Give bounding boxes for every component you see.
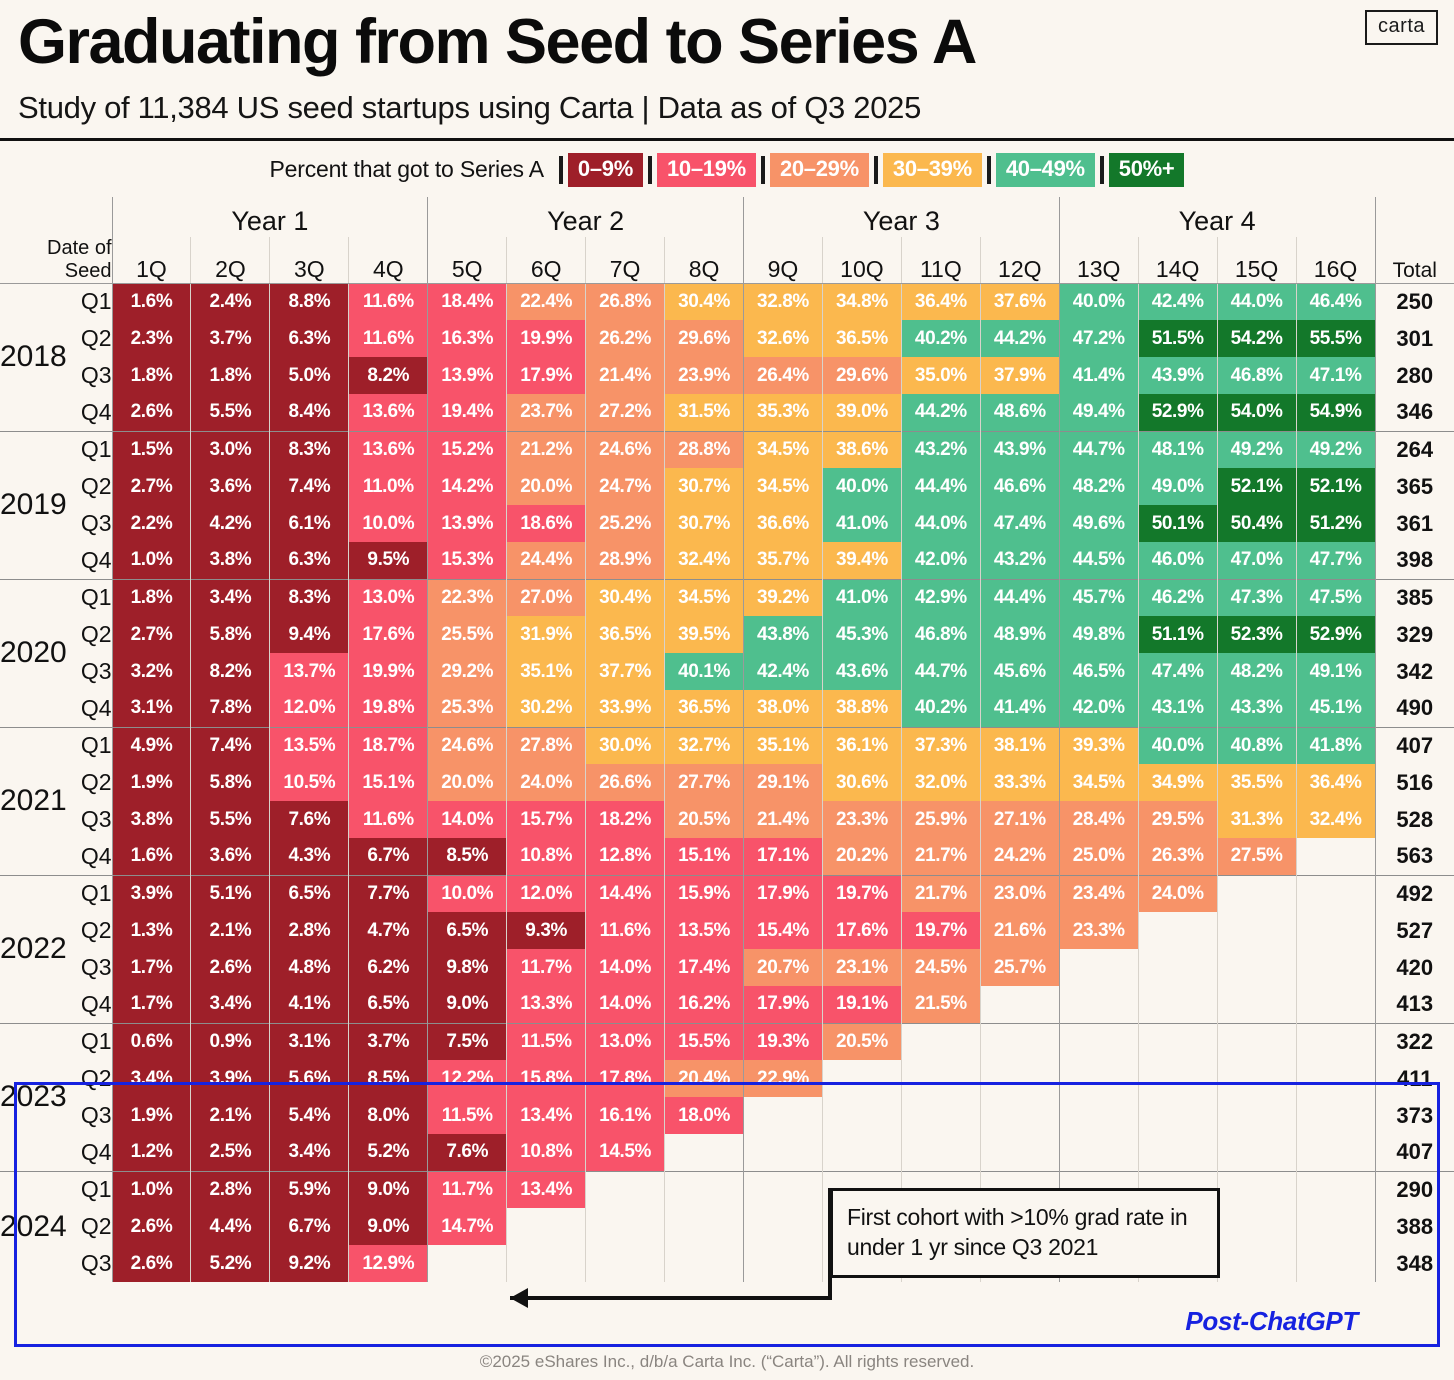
heatmap-cell-2022-Q3-8Q: 17.4% <box>665 949 744 986</box>
heatmap-cell-2018-Q4-7Q: 27.2% <box>586 394 665 431</box>
heatmap-cell-empty <box>428 1245 507 1282</box>
heatmap-cell-2023-Q1-4Q: 3.7% <box>349 1023 428 1060</box>
heatmap-cell-2018-Q3-12Q: 37.9% <box>980 357 1059 394</box>
heatmap-cell-empty <box>1217 1208 1296 1245</box>
total-cell-2018-Q3: 280 <box>1375 357 1454 394</box>
heatmap-cell-2021-Q4-2Q: 3.6% <box>191 838 270 875</box>
heatmap-cell-empty <box>1296 1023 1375 1060</box>
heatmap-cell-2021-Q4-4Q: 6.7% <box>349 838 428 875</box>
heatmap-cell-2018-Q3-5Q: 13.9% <box>428 357 507 394</box>
heatmap-cell-empty <box>1217 1245 1296 1282</box>
heatmap-cell-2022-Q1-4Q: 7.7% <box>349 875 428 912</box>
heatmap-cell-2019-Q2-10Q: 40.0% <box>822 468 901 505</box>
heatmap-cell-2021-Q2-11Q: 32.0% <box>901 764 980 801</box>
heatmap-cell-2021-Q1-2Q: 7.4% <box>191 727 270 764</box>
column-header-8Q: 8Q <box>665 237 744 284</box>
heatmap-cell-2022-Q3-3Q: 4.8% <box>270 949 349 986</box>
heatmap-cell-2020-Q3-12Q: 45.6% <box>980 653 1059 690</box>
heatmap-cell-2022-Q1-6Q: 12.0% <box>507 875 586 912</box>
heatmap-cell-2018-Q2-1Q: 2.3% <box>112 320 191 357</box>
heatmap-cell-2023-Q4-6Q: 10.8% <box>507 1134 586 1171</box>
heatmap-cell-2024-Q2-2Q: 4.4% <box>191 1208 270 1245</box>
total-cell-2018-Q4: 346 <box>1375 394 1454 431</box>
heatmap-cell-2018-Q3-1Q: 1.8% <box>112 357 191 394</box>
heatmap-cell-2018-Q1-10Q: 34.8% <box>822 283 901 320</box>
heatmap-cell-2021-Q2-15Q: 35.5% <box>1217 764 1296 801</box>
heatmap-cell-empty <box>665 1245 744 1282</box>
heatmap-cell-2022-Q2-6Q: 9.3% <box>507 912 586 949</box>
heatmap-cell-2019-Q2-13Q: 48.2% <box>1059 468 1138 505</box>
heatmap-cell-2024-Q3-3Q: 9.2% <box>270 1245 349 1282</box>
heatmap-cell-empty <box>1059 1134 1138 1171</box>
heatmap-cell-2020-Q1-9Q: 39.2% <box>744 579 823 616</box>
heatmap-cell-2021-Q3-8Q: 20.5% <box>665 801 744 838</box>
heatmap-cell-empty <box>1217 1097 1296 1134</box>
heatmap-cell-2020-Q4-3Q: 12.0% <box>270 690 349 727</box>
heatmap-cell-2021-Q1-16Q: 41.8% <box>1296 727 1375 764</box>
heatmap-cell-2020-Q1-14Q: 46.2% <box>1138 579 1217 616</box>
column-header-11Q: 11Q <box>901 237 980 284</box>
row-label-2021-Q1: Q1 <box>56 727 112 764</box>
heatmap-cell-empty <box>1217 1171 1296 1208</box>
heatmap-cell-2018-Q2-5Q: 16.3% <box>428 320 507 357</box>
heatmap-cell-empty <box>822 1097 901 1134</box>
heatmap-cell-2023-Q4-1Q: 1.2% <box>112 1134 191 1171</box>
row-label-2022-Q4: Q4 <box>56 986 112 1023</box>
column-header-14Q: 14Q <box>1138 237 1217 284</box>
heatmap-cell-2020-Q4-8Q: 36.5% <box>665 690 744 727</box>
heatmap-cell-2023-Q2-9Q: 22.9% <box>744 1060 823 1097</box>
heatmap-cell-2018-Q1-2Q: 2.4% <box>191 283 270 320</box>
row-label-2020-Q1: Q1 <box>56 579 112 616</box>
heatmap-cell-2021-Q3-3Q: 7.6% <box>270 801 349 838</box>
heatmap-cell-empty <box>1296 838 1375 875</box>
heatmap-cell-2023-Q3-1Q: 1.9% <box>112 1097 191 1134</box>
heatmap-cell-2023-Q3-2Q: 2.1% <box>191 1097 270 1134</box>
heatmap-cell-2021-Q3-7Q: 18.2% <box>586 801 665 838</box>
heatmap-cell-empty <box>980 1023 1059 1060</box>
heatmap-cell-2020-Q3-6Q: 35.1% <box>507 653 586 690</box>
heatmap-cell-2019-Q4-9Q: 35.7% <box>744 542 823 579</box>
heatmap-cell-2020-Q4-11Q: 40.2% <box>901 690 980 727</box>
heatmap-cell-2018-Q4-12Q: 48.6% <box>980 394 1059 431</box>
heatmap-cell-2019-Q4-1Q: 1.0% <box>112 542 191 579</box>
heatmap-cell-2018-Q1-5Q: 18.4% <box>428 283 507 320</box>
heatmap-cell-2023-Q2-2Q: 3.9% <box>191 1060 270 1097</box>
total-cell-2023-Q4: 407 <box>1375 1134 1454 1171</box>
heatmap-cell-2018-Q1-7Q: 26.8% <box>586 283 665 320</box>
heatmap-cell-2018-Q4-4Q: 13.6% <box>349 394 428 431</box>
year-group-header-3: Year 3 <box>744 197 1060 237</box>
year-label-2020: 2020 <box>0 579 56 727</box>
total-cell-2021-Q1: 407 <box>1375 727 1454 764</box>
heatmap-cell-2021-Q3-16Q: 32.4% <box>1296 801 1375 838</box>
heatmap-cell-2019-Q1-6Q: 21.2% <box>507 431 586 468</box>
heatmap-cell-2018-Q3-9Q: 26.4% <box>744 357 823 394</box>
row-label-2022-Q1: Q1 <box>56 875 112 912</box>
heatmap-cell-empty <box>1059 1023 1138 1060</box>
total-cell-2019-Q1: 264 <box>1375 431 1454 468</box>
heatmap-cell-2020-Q4-13Q: 42.0% <box>1059 690 1138 727</box>
heatmap-cell-2019-Q3-13Q: 49.6% <box>1059 505 1138 542</box>
callout-note: First cohort with >10% grad rate in unde… <box>830 1188 1220 1278</box>
column-header-16Q: 16Q <box>1296 237 1375 284</box>
heatmap-cell-2019-Q3-7Q: 25.2% <box>586 505 665 542</box>
heatmap-cell-2020-Q3-9Q: 42.4% <box>744 653 823 690</box>
total-cell-2023-Q2: 411 <box>1375 1060 1454 1097</box>
total-cell-2022-Q2: 527 <box>1375 912 1454 949</box>
heatmap-cell-2022-Q1-10Q: 19.7% <box>822 875 901 912</box>
total-cell-2020-Q3: 342 <box>1375 653 1454 690</box>
heatmap-cell-empty <box>1059 986 1138 1023</box>
heatmap-cell-2019-Q4-6Q: 24.4% <box>507 542 586 579</box>
heatmap-cell-2019-Q1-2Q: 3.0% <box>191 431 270 468</box>
heatmap-cell-2023-Q3-7Q: 16.1% <box>586 1097 665 1134</box>
heatmap-cell-2023-Q3-8Q: 18.0% <box>665 1097 744 1134</box>
heatmap-cell-2023-Q1-8Q: 15.5% <box>665 1023 744 1060</box>
heatmap-cell-2018-Q1-12Q: 37.6% <box>980 283 1059 320</box>
heatmap-cell-2020-Q2-10Q: 45.3% <box>822 616 901 653</box>
heatmap-cell-empty <box>1296 875 1375 912</box>
heatmap-cell-2020-Q4-16Q: 45.1% <box>1296 690 1375 727</box>
heatmap-cell-2022-Q2-7Q: 11.6% <box>586 912 665 949</box>
heatmap-cell-2022-Q3-10Q: 23.1% <box>822 949 901 986</box>
heatmap-cell-2019-Q3-10Q: 41.0% <box>822 505 901 542</box>
heatmap-cell-empty <box>1296 1208 1375 1245</box>
heatmap-cell-2020-Q2-13Q: 49.8% <box>1059 616 1138 653</box>
heatmap-cell-2019-Q3-12Q: 47.4% <box>980 505 1059 542</box>
heatmap-cell-2019-Q1-10Q: 38.6% <box>822 431 901 468</box>
table-row: Q22.7%5.8%9.4%17.6%25.5%31.9%36.5%39.5%4… <box>0 616 1454 653</box>
heatmap-cell-2022-Q2-3Q: 2.8% <box>270 912 349 949</box>
heatmap-cell-empty <box>1059 1097 1138 1134</box>
page-subtitle: Study of 11,384 US seed startups using C… <box>18 90 1436 126</box>
heatmap-cell-empty <box>1138 912 1217 949</box>
heatmap-cell-empty <box>1296 1097 1375 1134</box>
total-cell-2023-Q3: 373 <box>1375 1097 1454 1134</box>
heatmap-cell-2018-Q2-2Q: 3.7% <box>191 320 270 357</box>
heatmap-cell-2019-Q3-8Q: 30.7% <box>665 505 744 542</box>
heatmap-cell-2018-Q3-10Q: 29.6% <box>822 357 901 394</box>
heatmap-cell-2021-Q3-6Q: 15.7% <box>507 801 586 838</box>
heatmap-cell-empty <box>1138 1134 1217 1171</box>
heatmap-cell-2021-Q4-5Q: 8.5% <box>428 838 507 875</box>
heatmap-cell-empty <box>744 1171 823 1208</box>
heatmap-cell-2021-Q1-8Q: 32.7% <box>665 727 744 764</box>
quarter-header-row: Date of Seed1Q2Q3Q4Q5Q6Q7Q8Q9Q10Q11Q12Q1… <box>0 237 1454 284</box>
heatmap-cell-2022-Q4-3Q: 4.1% <box>270 986 349 1023</box>
heatmap-cell-empty <box>1217 1060 1296 1097</box>
heatmap-cell-2021-Q1-9Q: 35.1% <box>744 727 823 764</box>
legend-separator <box>559 156 563 184</box>
heatmap-cell-2020-Q3-10Q: 43.6% <box>822 653 901 690</box>
heatmap-cell-2022-Q2-8Q: 13.5% <box>665 912 744 949</box>
heatmap-cell-2019-Q2-6Q: 20.0% <box>507 468 586 505</box>
table-row: Q41.0%3.8%6.3%9.5%15.3%24.4%28.9%32.4%35… <box>0 542 1454 579</box>
year-label-2018: 2018 <box>0 283 56 431</box>
heatmap-cell-2019-Q2-1Q: 2.7% <box>112 468 191 505</box>
heatmap-cell-2021-Q2-13Q: 34.5% <box>1059 764 1138 801</box>
legend-separator <box>987 156 991 184</box>
table-row: Q41.7%3.4%4.1%6.5%9.0%13.3%14.0%16.2%17.… <box>0 986 1454 1023</box>
heatmap-cell-2019-Q2-16Q: 52.1% <box>1296 468 1375 505</box>
table-row: Q33.2%8.2%13.7%19.9%29.2%35.1%37.7%40.1%… <box>0 653 1454 690</box>
heatmap-cell-2018-Q1-3Q: 8.8% <box>270 283 349 320</box>
heatmap-cell-2022-Q4-6Q: 13.3% <box>507 986 586 1023</box>
table-row: Q31.8%1.8%5.0%8.2%13.9%17.9%21.4%23.9%26… <box>0 357 1454 394</box>
heatmap-cell-2018-Q2-4Q: 11.6% <box>349 320 428 357</box>
heatmap-cell-empty <box>586 1245 665 1282</box>
heatmap-cell-2020-Q2-11Q: 46.8% <box>901 616 980 653</box>
heatmap-cell-2018-Q3-14Q: 43.9% <box>1138 357 1217 394</box>
heatmap-cell-2022-Q1-3Q: 6.5% <box>270 875 349 912</box>
header-spacer <box>0 197 112 237</box>
page-title: Graduating from Seed to Series A <box>18 10 1436 76</box>
heatmap-cell-2021-Q1-13Q: 39.3% <box>1059 727 1138 764</box>
heatmap-cell-2018-Q4-14Q: 52.9% <box>1138 394 1217 431</box>
heatmap-cell-2019-Q4-14Q: 46.0% <box>1138 542 1217 579</box>
heatmap-cell-2021-Q2-1Q: 1.9% <box>112 764 191 801</box>
heatmap-cell-2021-Q3-1Q: 3.8% <box>112 801 191 838</box>
heatmap-cell-2021-Q4-14Q: 26.3% <box>1138 838 1217 875</box>
heatmap-cell-2020-Q2-5Q: 25.5% <box>428 616 507 653</box>
table-row: 2024Q11.0%2.8%5.9%9.0%11.7%13.4%290 <box>0 1171 1454 1208</box>
heatmap-cell-2023-Q1-10Q: 20.5% <box>822 1023 901 1060</box>
heatmap-cell-2023-Q3-4Q: 8.0% <box>349 1097 428 1134</box>
heatmap-cell-2021-Q3-11Q: 25.9% <box>901 801 980 838</box>
legend-separator <box>761 156 765 184</box>
heatmap-cell-2021-Q1-10Q: 36.1% <box>822 727 901 764</box>
heatmap-cell-empty <box>665 1208 744 1245</box>
heatmap-cell-2022-Q4-4Q: 6.5% <box>349 986 428 1023</box>
heatmap-cell-2018-Q2-10Q: 36.5% <box>822 320 901 357</box>
heatmap-cell-2023-Q4-7Q: 14.5% <box>586 1134 665 1171</box>
heatmap-cell-2018-Q3-11Q: 35.0% <box>901 357 980 394</box>
heatmap-cell-empty <box>1059 1060 1138 1097</box>
heatmap-cell-2019-Q1-15Q: 49.2% <box>1217 431 1296 468</box>
heatmap-cell-empty <box>1296 1171 1375 1208</box>
heatmap-cell-2018-Q4-10Q: 39.0% <box>822 394 901 431</box>
heatmap-cell-empty <box>744 1245 823 1282</box>
heatmap-cell-2019-Q2-15Q: 52.1% <box>1217 468 1296 505</box>
heatmap-cell-2022-Q2-13Q: 23.3% <box>1059 912 1138 949</box>
heatmap-cell-2020-Q2-12Q: 48.9% <box>980 616 1059 653</box>
heatmap-cell-2022-Q1-14Q: 24.0% <box>1138 875 1217 912</box>
heatmap-cell-2022-Q4-1Q: 1.7% <box>112 986 191 1023</box>
row-label-2018-Q4: Q4 <box>56 394 112 431</box>
heatmap-cell-2022-Q1-9Q: 17.9% <box>744 875 823 912</box>
heatmap-cell-2018-Q3-6Q: 17.9% <box>507 357 586 394</box>
heatmap-cell-2022-Q2-2Q: 2.1% <box>191 912 270 949</box>
heatmap-cell-2020-Q1-3Q: 8.3% <box>270 579 349 616</box>
heatmap-cell-2020-Q2-3Q: 9.4% <box>270 616 349 653</box>
heatmap-cell-2020-Q2-15Q: 52.3% <box>1217 616 1296 653</box>
heatmap-cell-2022-Q4-10Q: 19.1% <box>822 986 901 1023</box>
heatmap-cell-2019-Q2-9Q: 34.5% <box>744 468 823 505</box>
heatmap-cell-2019-Q1-5Q: 15.2% <box>428 431 507 468</box>
heatmap-cell-2018-Q3-15Q: 46.8% <box>1217 357 1296 394</box>
heatmap-cell-2021-Q2-9Q: 29.1% <box>744 764 823 801</box>
heatmap-cell-2020-Q1-13Q: 45.7% <box>1059 579 1138 616</box>
heatmap-cell-2022-Q4-7Q: 14.0% <box>586 986 665 1023</box>
heatmap-cell-2018-Q4-2Q: 5.5% <box>191 394 270 431</box>
heatmap-cell-2020-Q3-16Q: 49.1% <box>1296 653 1375 690</box>
table-row: Q43.1%7.8%12.0%19.8%25.3%30.2%33.9%36.5%… <box>0 690 1454 727</box>
heatmap-cell-2018-Q3-2Q: 1.8% <box>191 357 270 394</box>
heatmap-cell-2019-Q1-11Q: 43.2% <box>901 431 980 468</box>
column-header-5Q: 5Q <box>428 237 507 284</box>
heatmap-cell-2019-Q2-5Q: 14.2% <box>428 468 507 505</box>
heatmap-cell-2022-Q3-4Q: 6.2% <box>349 949 428 986</box>
heatmap-cell-2022-Q3-1Q: 1.7% <box>112 949 191 986</box>
heatmap-cell-empty <box>1217 949 1296 986</box>
heatmap-cell-2018-Q1-15Q: 44.0% <box>1217 283 1296 320</box>
heatmap-cell-2022-Q3-5Q: 9.8% <box>428 949 507 986</box>
table-row: Q23.4%3.9%5.6%8.5%12.2%15.8%17.8%20.4%22… <box>0 1060 1454 1097</box>
row-label-2024-Q1: Q1 <box>56 1171 112 1208</box>
heatmap-cell-2021-Q4-7Q: 12.8% <box>586 838 665 875</box>
heatmap-cell-2024-Q2-5Q: 14.7% <box>428 1208 507 1245</box>
heatmap-cell-2020-Q2-2Q: 5.8% <box>191 616 270 653</box>
heatmap-cell-empty <box>1217 986 1296 1023</box>
heatmap-cell-2022-Q2-1Q: 1.3% <box>112 912 191 949</box>
heatmap-cell-empty <box>1217 1134 1296 1171</box>
heatmap-cell-2020-Q1-5Q: 22.3% <box>428 579 507 616</box>
heatmap-cell-2021-Q2-10Q: 30.6% <box>822 764 901 801</box>
legend-label: Percent that got to Series A <box>270 156 544 183</box>
heatmap-cell-empty <box>1296 986 1375 1023</box>
heatmap-cell-2023-Q1-2Q: 0.9% <box>191 1023 270 1060</box>
heatmap-cell-2019-Q1-4Q: 13.6% <box>349 431 428 468</box>
heatmap-cell-2022-Q4-2Q: 3.4% <box>191 986 270 1023</box>
heatmap-cell-2019-Q3-1Q: 2.2% <box>112 505 191 542</box>
heatmap-cell-2019-Q4-13Q: 44.5% <box>1059 542 1138 579</box>
total-cell-2020-Q1: 385 <box>1375 579 1454 616</box>
heatmap-cell-2020-Q1-2Q: 3.4% <box>191 579 270 616</box>
heatmap-cell-2020-Q3-1Q: 3.2% <box>112 653 191 690</box>
heatmap-cell-2018-Q4-1Q: 2.6% <box>112 394 191 431</box>
carta-logo: carta <box>1365 10 1438 45</box>
heatmap-cell-2020-Q2-8Q: 39.5% <box>665 616 744 653</box>
table-row: Q21.9%5.8%10.5%15.1%20.0%24.0%26.6%27.7%… <box>0 764 1454 801</box>
heatmap-cell-2019-Q4-5Q: 15.3% <box>428 542 507 579</box>
heatmap-cell-2019-Q1-8Q: 28.8% <box>665 431 744 468</box>
heatmap-cell-2020-Q1-10Q: 41.0% <box>822 579 901 616</box>
heatmap-cell-2023-Q2-8Q: 20.4% <box>665 1060 744 1097</box>
heatmap-cell-2023-Q1-7Q: 13.0% <box>586 1023 665 1060</box>
row-label-2021-Q4: Q4 <box>56 838 112 875</box>
heatmap-cell-2023-Q3-3Q: 5.4% <box>270 1097 349 1134</box>
heatmap-cell-2021-Q1-7Q: 30.0% <box>586 727 665 764</box>
table-row: Q31.9%2.1%5.4%8.0%11.5%13.4%16.1%18.0%37… <box>0 1097 1454 1134</box>
legend: Percent that got to Series A 0–9%10–19%2… <box>0 141 1454 197</box>
heatmap-cell-2023-Q4-2Q: 2.5% <box>191 1134 270 1171</box>
heatmap-cell-2024-Q1-1Q: 1.0% <box>112 1171 191 1208</box>
column-header-1Q: 1Q <box>112 237 191 284</box>
heatmap-cell-2021-Q2-12Q: 33.3% <box>980 764 1059 801</box>
heatmap-cell-2019-Q4-10Q: 39.4% <box>822 542 901 579</box>
heatmap-cell-empty <box>1217 1023 1296 1060</box>
heatmap-cell-2019-Q1-7Q: 24.6% <box>586 431 665 468</box>
heatmap-cell-2022-Q3-9Q: 20.7% <box>744 949 823 986</box>
heatmap-cell-2019-Q1-12Q: 43.9% <box>980 431 1059 468</box>
heatmap-cell-2019-Q2-14Q: 49.0% <box>1138 468 1217 505</box>
infographic-page: Graduating from Seed to Series A Study o… <box>0 0 1454 1380</box>
total-cell-2019-Q4: 398 <box>1375 542 1454 579</box>
heatmap-cell-empty <box>1217 875 1296 912</box>
heatmap-cell-2024-Q3-4Q: 12.9% <box>349 1245 428 1282</box>
heatmap-cell-2018-Q4-13Q: 49.4% <box>1059 394 1138 431</box>
header: Graduating from Seed to Series A Study o… <box>0 0 1454 126</box>
heatmap-cell-2020-Q1-1Q: 1.8% <box>112 579 191 616</box>
heatmap-cell-empty <box>901 1060 980 1097</box>
heatmap-cell-2022-Q1-5Q: 10.0% <box>428 875 507 912</box>
heatmap-cell-2018-Q4-5Q: 19.4% <box>428 394 507 431</box>
heatmap-cell-2019-Q4-11Q: 42.0% <box>901 542 980 579</box>
heatmap-cell-2023-Q1-3Q: 3.1% <box>270 1023 349 1060</box>
heatmap-cell-2020-Q3-13Q: 46.5% <box>1059 653 1138 690</box>
heatmap-cell-2018-Q1-8Q: 30.4% <box>665 283 744 320</box>
heatmap-cell-2018-Q1-6Q: 22.4% <box>507 283 586 320</box>
heatmap-cell-2022-Q4-9Q: 17.9% <box>744 986 823 1023</box>
heatmap-cell-2022-Q4-11Q: 21.5% <box>901 986 980 1023</box>
heatmap-cell-2018-Q2-13Q: 47.2% <box>1059 320 1138 357</box>
heatmap-cell-2021-Q1-5Q: 24.6% <box>428 727 507 764</box>
heatmap-cell-2023-Q2-5Q: 12.2% <box>428 1060 507 1097</box>
heatmap-cell-empty <box>980 1134 1059 1171</box>
heatmap-cell-2021-Q3-2Q: 5.5% <box>191 801 270 838</box>
table-row: Q41.2%2.5%3.4%5.2%7.6%10.8%14.5%407 <box>0 1134 1454 1171</box>
heatmap-cell-2022-Q1-2Q: 5.1% <box>191 875 270 912</box>
heatmap-cell-empty <box>901 1097 980 1134</box>
heatmap-cell-2019-Q4-12Q: 43.2% <box>980 542 1059 579</box>
heatmap-cell-2021-Q1-4Q: 18.7% <box>349 727 428 764</box>
heatmap-cell-2020-Q2-7Q: 36.5% <box>586 616 665 653</box>
heatmap-cell-empty <box>1296 949 1375 986</box>
heatmap-cell-2020-Q3-4Q: 19.9% <box>349 653 428 690</box>
heatmap-cell-2019-Q3-16Q: 51.2% <box>1296 505 1375 542</box>
heatmap-cell-2021-Q1-15Q: 40.8% <box>1217 727 1296 764</box>
heatmap-cell-2020-Q4-15Q: 43.3% <box>1217 690 1296 727</box>
heatmap-cell-empty <box>1296 1245 1375 1282</box>
heatmap-cell-2019-Q4-2Q: 3.8% <box>191 542 270 579</box>
total-cell-2023-Q1: 322 <box>1375 1023 1454 1060</box>
heatmap-cell-empty <box>665 1171 744 1208</box>
heatmap-cell-2020-Q2-6Q: 31.9% <box>507 616 586 653</box>
heatmap-cell-empty <box>1138 1023 1217 1060</box>
heatmap-cell-2018-Q2-9Q: 32.6% <box>744 320 823 357</box>
heatmap-cell-2022-Q3-12Q: 25.7% <box>980 949 1059 986</box>
heatmap-cell-empty <box>980 1097 1059 1134</box>
year-group-header-4: Year 4 <box>1059 197 1375 237</box>
table-row: Q42.6%5.5%8.4%13.6%19.4%23.7%27.2%31.5%3… <box>0 394 1454 431</box>
legend-chip-4: 40–49% <box>996 153 1095 187</box>
heatmap-cell-2020-Q4-6Q: 30.2% <box>507 690 586 727</box>
heatmap-cell-2021-Q4-15Q: 27.5% <box>1217 838 1296 875</box>
heatmap-cell-2020-Q4-12Q: 41.4% <box>980 690 1059 727</box>
heatmap-cell-2020-Q4-4Q: 19.8% <box>349 690 428 727</box>
total-cell-2018-Q2: 301 <box>1375 320 1454 357</box>
heatmap-cell-2020-Q1-6Q: 27.0% <box>507 579 586 616</box>
table-row: Q32.6%5.2%9.2%12.9%348 <box>0 1245 1454 1282</box>
heatmap-cell-empty <box>744 1134 823 1171</box>
legend-separator <box>874 156 878 184</box>
total-cell-2024-Q1: 290 <box>1375 1171 1454 1208</box>
heatmap-cell-2024-Q3-1Q: 2.6% <box>112 1245 191 1282</box>
heatmap-cell-2021-Q4-10Q: 20.2% <box>822 838 901 875</box>
heatmap-cell-empty <box>586 1171 665 1208</box>
total-cell-2018-Q1: 250 <box>1375 283 1454 320</box>
